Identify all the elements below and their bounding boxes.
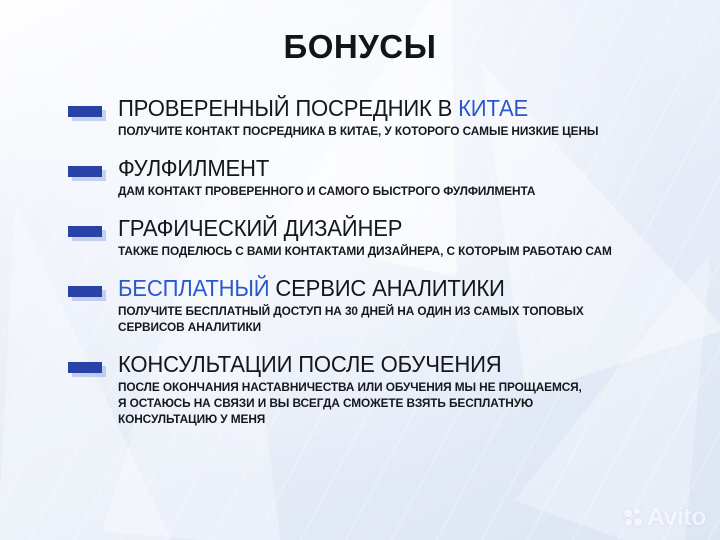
bonus-item: БЕСПЛАТНЫЙ СЕРВИС АНАЛИТИКИПОЛУЧИТЕ БЕСП… [0, 276, 720, 336]
bonus-heading: ГРАФИЧЕСКИЙ ДИЗАЙНЕР [118, 216, 686, 240]
bonus-item: ПРОВЕРЕННЫЙ ПОСРЕДНИК В КИТАЕПОЛУЧИТЕ КО… [0, 96, 720, 140]
bullet-marker-icon [68, 226, 102, 237]
bonus-subtitle-line: ПОЛУЧИТЕ КОНТАКТ ПОСРЕДНИКА В КИТАЕ, У К… [118, 124, 683, 140]
bonus-heading-text: ФУЛФИЛМЕНТ [118, 155, 269, 181]
bonus-subtitle-line: ТАКЖЕ ПОДЕЛЮСЬ С ВАМИ КОНТАКТАМИ ДИЗАЙНЕ… [118, 244, 683, 260]
bonus-heading: КОНСУЛЬТАЦИИ ПОСЛЕ ОБУЧЕНИЯ [118, 352, 686, 376]
bonus-subtitle-line: Я ОСТАЮСЬ НА СВЯЗИ И ВЫ ВСЕГДА СМОЖЕТЕ В… [118, 396, 683, 412]
avito-wordmark: Avito [647, 505, 706, 530]
bonus-item: КОНСУЛЬТАЦИИ ПОСЛЕ ОБУЧЕНИЯПОСЛЕ ОКОНЧАН… [0, 352, 720, 428]
bonus-subtitle-line: ПОСЛЕ ОКОНЧАНИЯ НАСТАВНИЧЕСТВА ИЛИ ОБУЧЕ… [118, 380, 683, 396]
bonus-heading: ПРОВЕРЕННЫЙ ПОСРЕДНИК В КИТАЕ [118, 96, 686, 120]
bonuses-slide: БОНУСЫ ПРОВЕРЕННЫЙ ПОСРЕДНИК В КИТАЕПОЛУ… [0, 0, 720, 540]
bonus-item: ФУЛФИЛМЕНТДАМ КОНТАКТ ПРОВЕРЕННОГО И САМ… [0, 156, 720, 200]
bonus-heading: ФУЛФИЛМЕНТ [118, 156, 686, 180]
bonus-subtitle: ПОЛУЧИТЕ КОНТАКТ ПОСРЕДНИКА В КИТАЕ, У К… [118, 124, 683, 140]
bonus-list: ПРОВЕРЕННЫЙ ПОСРЕДНИК В КИТАЕПОЛУЧИТЕ КО… [0, 96, 720, 444]
bullet-marker-icon [68, 106, 102, 117]
bullet-marker-icon [68, 362, 102, 373]
bonus-heading-text: ГРАФИЧЕСКИЙ ДИЗАЙНЕР [118, 215, 402, 241]
bonus-subtitle: ТАКЖЕ ПОДЕЛЮСЬ С ВАМИ КОНТАКТАМИ ДИЗАЙНЕ… [118, 244, 683, 260]
bonus-subtitle: ПОСЛЕ ОКОНЧАНИЯ НАСТАВНИЧЕСТВА ИЛИ ОБУЧЕ… [118, 380, 683, 428]
bonus-item: ГРАФИЧЕСКИЙ ДИЗАЙНЕРТАКЖЕ ПОДЕЛЮСЬ С ВАМ… [0, 216, 720, 260]
bonus-heading-highlight: КИТАЕ [458, 95, 528, 121]
bonus-heading-text: СЕРВИС АНАЛИТИКИ [269, 275, 504, 301]
bonus-subtitle-line: ДАМ КОНТАКТ ПРОВЕРЕННОГО И САМОГО БЫСТРО… [118, 184, 683, 200]
bonus-heading-text: ПРОВЕРЕННЫЙ ПОСРЕДНИК В [118, 95, 458, 121]
bonus-heading: БЕСПЛАТНЫЙ СЕРВИС АНАЛИТИКИ [118, 276, 686, 300]
avito-watermark: Avito [624, 505, 706, 530]
bonus-subtitle-line: СЕРВИСОВ АНАЛИТИКИ [118, 320, 683, 336]
bonus-subtitle-line: КОНСУЛЬТАЦИЮ У МЕНЯ [118, 412, 683, 428]
bonus-heading-highlight: БЕСПЛАТНЫЙ [118, 275, 269, 301]
bonus-subtitle-line: ПОЛУЧИТЕ БЕСПЛАТНЫЙ ДОСТУП НА 30 ДНЕЙ НА… [118, 304, 683, 320]
bonus-heading-text: КОНСУЛЬТАЦИИ ПОСЛЕ ОБУЧЕНИЯ [118, 351, 502, 377]
bullet-marker-icon [68, 286, 102, 297]
page-title: БОНУСЫ [0, 28, 720, 66]
bonus-subtitle: ПОЛУЧИТЕ БЕСПЛАТНЫЙ ДОСТУП НА 30 ДНЕЙ НА… [118, 304, 683, 336]
bullet-marker-icon [68, 166, 102, 177]
bonus-subtitle: ДАМ КОНТАКТ ПРОВЕРЕННОГО И САМОГО БЫСТРО… [118, 184, 683, 200]
avito-dots-icon [624, 508, 643, 528]
